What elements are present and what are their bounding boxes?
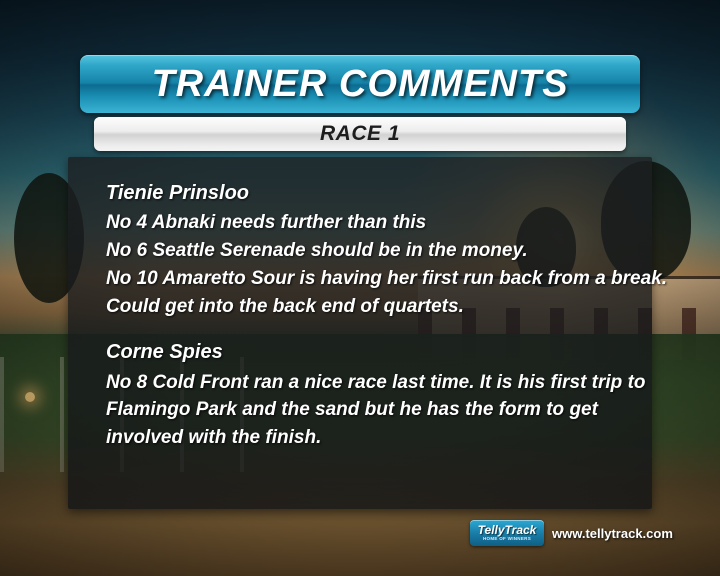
trainer-name: Tienie Prinsloo (106, 179, 626, 207)
comment-line: Could get into the back end of quartets. (106, 293, 626, 321)
panel-subtitle-bar: RACE 1 (94, 117, 626, 151)
comments-body: Tienie Prinsloo No 4 Abnaki needs furthe… (68, 157, 652, 509)
race-label: RACE 1 (320, 122, 400, 146)
trainer-comments-panel: TRAINER COMMENTS RACE 1 Tienie Prinsloo … (68, 55, 652, 507)
website-url: www.tellytrack.com (552, 526, 673, 541)
comment-block: Corne Spies No 8 Cold Front ran a nice r… (106, 338, 626, 452)
logo-wordmark: TellyTrack (478, 524, 537, 536)
logo-tagline: HOME OF WINNERS (483, 536, 531, 542)
comment-line: No 6 Seattle Serenade should be in the m… (106, 237, 626, 265)
panel-title-bar: TRAINER COMMENTS (80, 55, 640, 113)
footer-branding: TellyTrack HOME OF WINNERS www.tellytrac… (470, 520, 673, 546)
comment-line: No 10 Amaretto Sour is having her first … (106, 265, 626, 293)
trainer-name: Corne Spies (106, 338, 626, 366)
broadcast-screen: TRAINER COMMENTS RACE 1 Tienie Prinsloo … (0, 0, 720, 576)
comment-line: Flamingo Park and the sand but he has th… (106, 396, 626, 424)
comment-block: Tienie Prinsloo No 4 Abnaki needs furthe… (106, 179, 626, 320)
comment-line: No 4 Abnaki needs further than this (106, 209, 626, 237)
comment-line: No 8 Cold Front ran a nice race last tim… (106, 369, 626, 397)
tellytrack-logo: TellyTrack HOME OF WINNERS (470, 520, 544, 546)
comment-line: involved with the finish. (106, 424, 626, 452)
page-title: TRAINER COMMENTS (151, 63, 568, 106)
